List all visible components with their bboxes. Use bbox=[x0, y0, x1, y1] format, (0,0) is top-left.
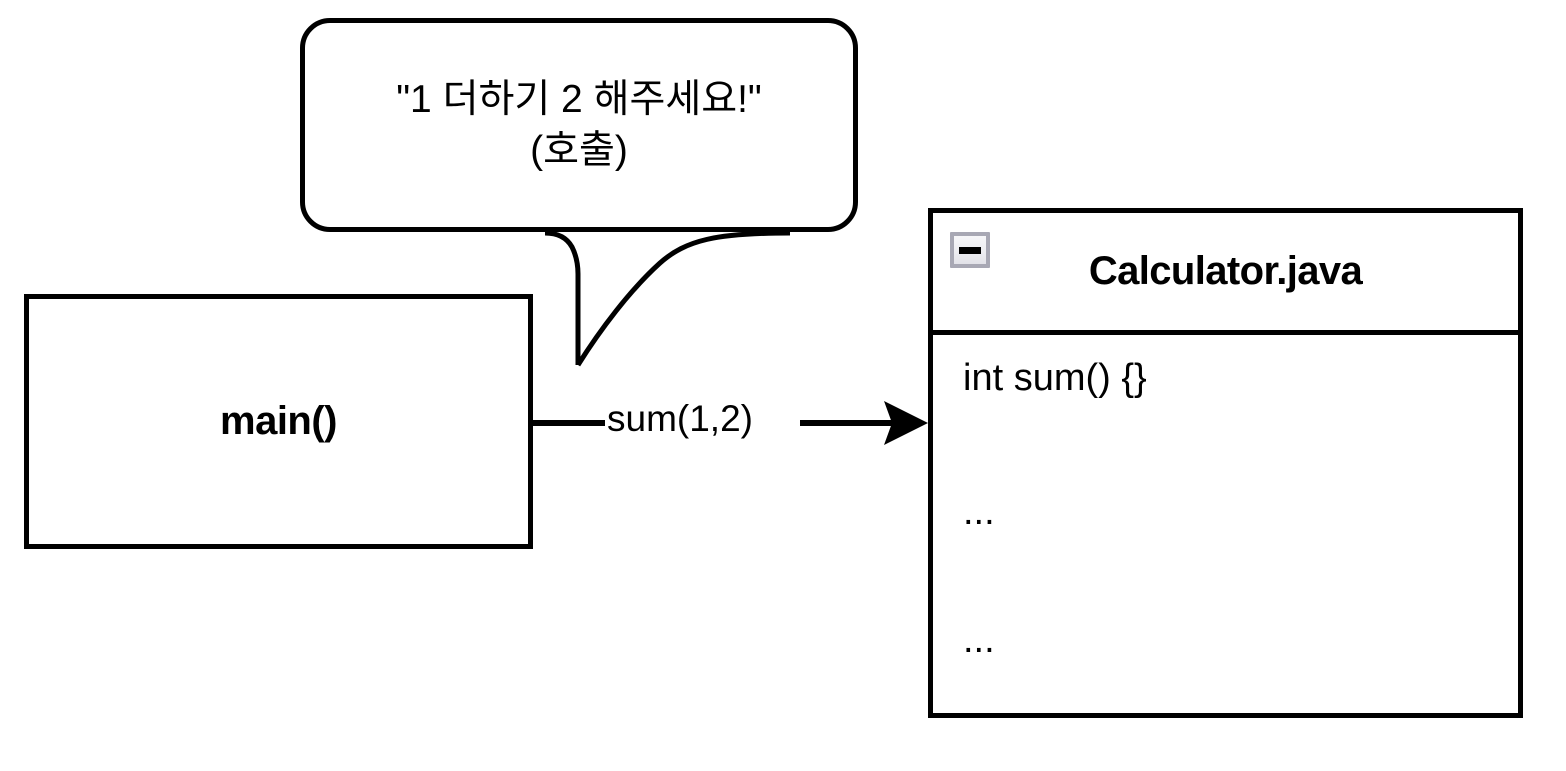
calculator-body: int sum() {} ... ... bbox=[933, 335, 1518, 713]
diagram-canvas: "1 더하기 2 해주세요!" (호출) main() sum(1,2) Cal… bbox=[0, 0, 1566, 771]
calculator-title: Calculator.java bbox=[1089, 249, 1362, 294]
minus-icon-bar bbox=[959, 247, 981, 254]
call-arrow-label: sum(1,2) bbox=[605, 400, 755, 437]
speech-bubble-tail-outline-right bbox=[578, 233, 790, 365]
main-method-box[interactable]: main() bbox=[24, 294, 533, 549]
call-arrow-head bbox=[884, 401, 928, 445]
calculator-header: Calculator.java bbox=[933, 213, 1518, 335]
main-method-label: main() bbox=[220, 399, 337, 444]
code-line-sum-signature: int sum() {} bbox=[963, 359, 1147, 397]
speech-bubble bbox=[300, 18, 858, 232]
code-line-ellipsis-1: ... bbox=[963, 493, 995, 531]
minus-icon[interactable] bbox=[950, 232, 990, 268]
speech-bubble-tail-outline bbox=[545, 233, 578, 365]
calculator-class-box[interactable]: Calculator.java int sum() {} ... ... bbox=[928, 208, 1523, 718]
code-line-ellipsis-2: ... bbox=[963, 621, 995, 659]
